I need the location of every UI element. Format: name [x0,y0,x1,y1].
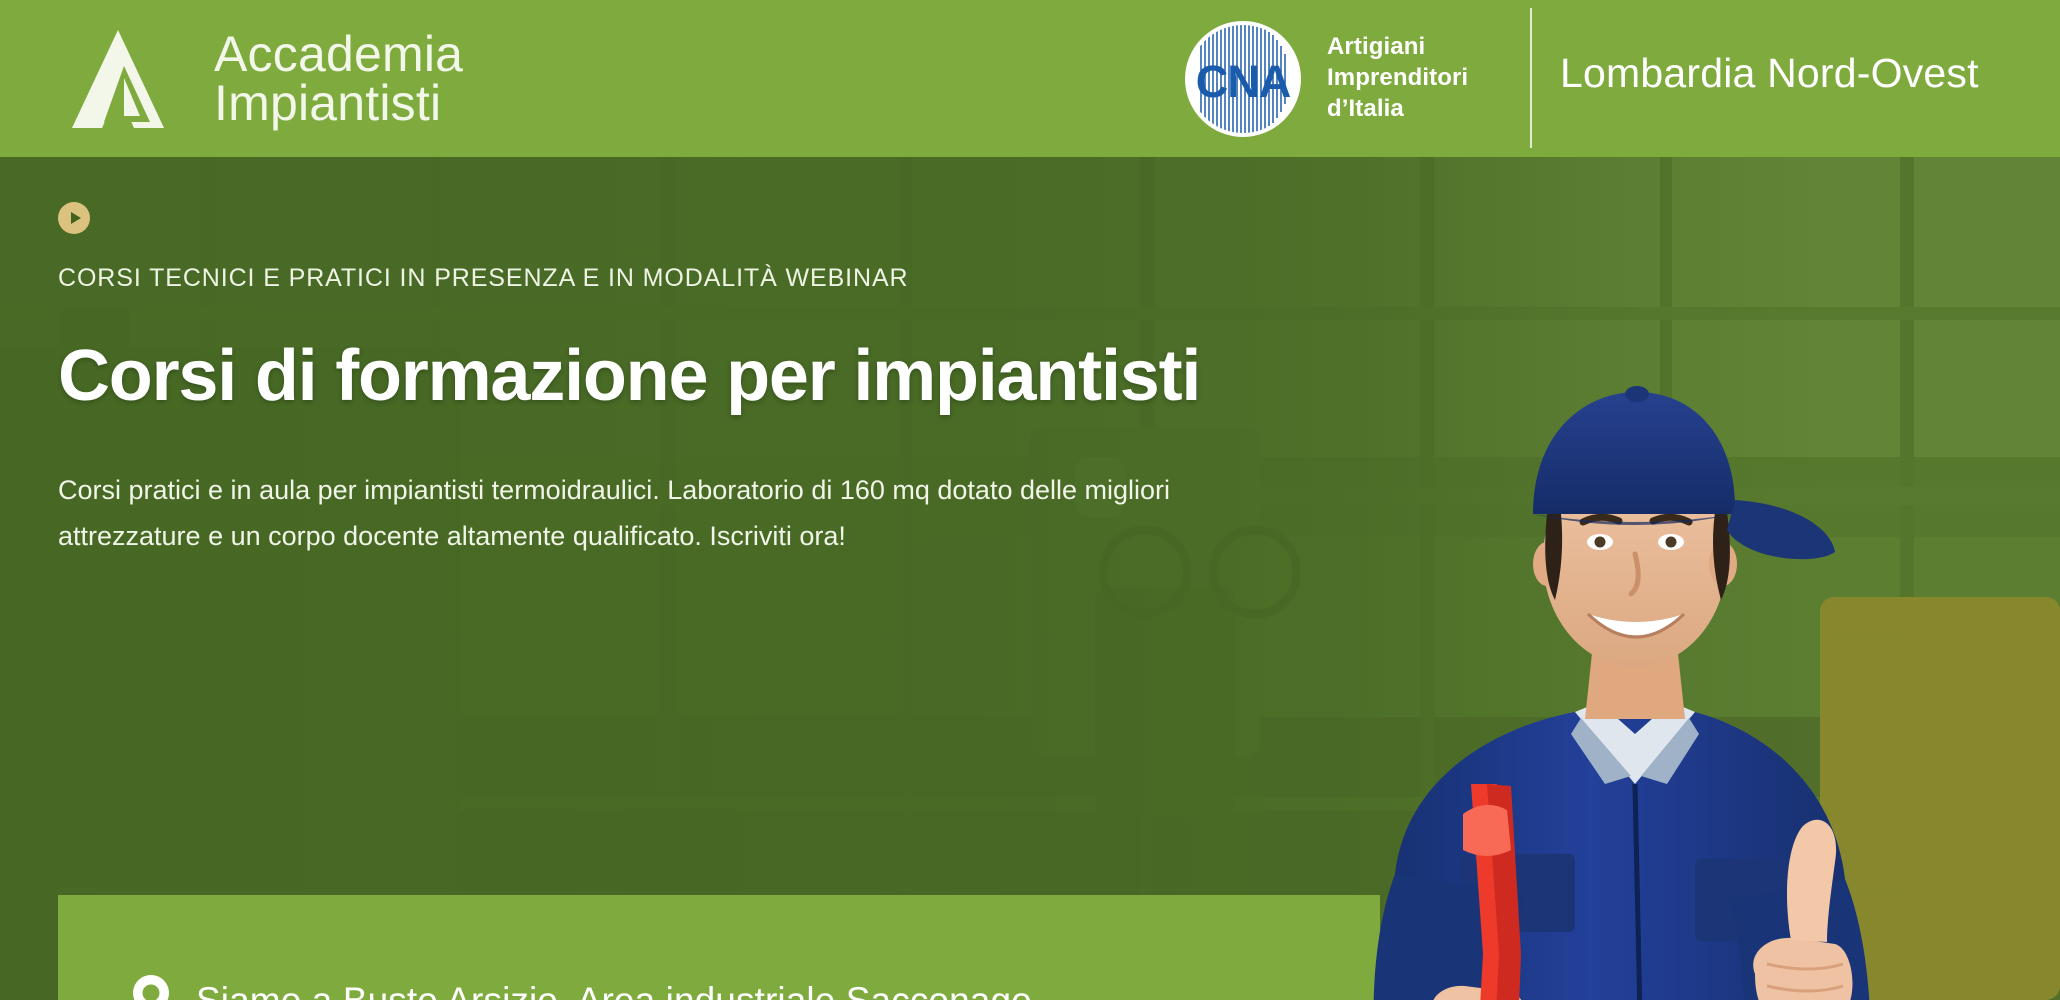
promo-banner: Accademia Impiantisti [0,0,2060,1000]
hero-section: CORSI TECNICI E PRATICI IN PRESENZA E IN… [0,157,2060,1000]
hero-headline: Corsi di formazione per impiantisti [58,335,1358,417]
hero-copy: CORSI TECNICI E PRATICI IN PRESENZA E IN… [58,202,1358,560]
header-divider [1530,8,1532,148]
location-row: Siamo a Busto Arsizio, Area industriale … [128,975,1380,1000]
brand-name-line2: Impiantisti [214,79,463,128]
svg-text:CNA: CNA [1196,56,1291,107]
region-label: Lombardia Nord-Ovest [1560,50,1979,97]
cna-circle-logo-icon: CNA [1185,21,1301,137]
hero-eyebrow: CORSI TECNICI E PRATICI IN PRESENZA E IN… [58,264,1358,293]
brand-name-line1: Accademia [214,30,463,79]
hero-subcopy: Corsi pratici e in aula per impiantisti … [58,467,1288,560]
map-pin-icon [128,975,174,1000]
triangle-a-mark-icon [72,30,178,128]
cna-tagline-line1: Artigiani [1327,32,1468,63]
play-circle-icon[interactable] [58,202,90,234]
location-text: Siamo a Busto Arsizio, Area industriale … [196,980,1032,1000]
cna-tagline-line2: Imprenditori [1327,63,1468,94]
contact-info-card: Siamo a Busto Arsizio, Area industriale … [58,895,1380,1000]
cna-tagline-line3: d’Italia [1327,94,1468,125]
brand-lockup[interactable]: Accademia Impiantisti [72,30,463,128]
site-header: Accademia Impiantisti [0,0,2060,157]
cna-tagline: Artigiani Imprenditori d’Italia [1327,32,1468,124]
cna-lockup[interactable]: CNA Artigiani Imprenditori d’Italia [1185,0,1468,157]
plumber-worker-photo [1275,314,1915,1000]
